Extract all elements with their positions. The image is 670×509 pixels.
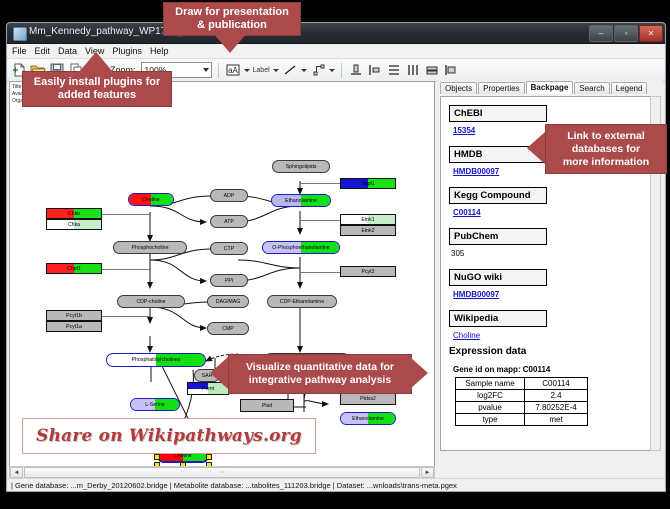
section-header-wikipedia: Wikipedia [449,310,547,327]
section-header-kegg: Kegg Compound [449,187,547,204]
callout-arrow-right-icon [410,357,428,389]
table-cell-value: 2.4 [525,390,588,402]
app-icon [13,27,27,41]
kegg-link[interactable]: C00114 [453,208,652,217]
chevron-down-icon[interactable] [329,69,335,72]
metabolite-node[interactable]: ATP [210,215,248,228]
gene-label: Chkb [68,211,80,217]
tab-backpage[interactable]: Backpage [526,81,574,94]
toolbar-separator [218,63,219,78]
metabolite-label: Phosphocholine [132,245,169,251]
scroll-left-icon[interactable]: ◄ [10,467,23,478]
table-cell-key: pvalue [456,402,525,414]
metabolite-node[interactable]: CMP [207,322,249,335]
callout-arrow-left-icon [527,132,545,164]
gene-box[interactable]: Sgpl1 [340,178,396,189]
close-button[interactable]: ✕ [639,25,663,42]
table-cell-key: type [456,414,525,426]
metabolite-node[interactable]: Ethanolamine [340,412,396,425]
table-cell-value: C00114 [525,378,588,390]
menu-item-data[interactable]: Data [58,46,77,56]
pubchem-value: 305 [451,249,652,258]
table-cell-key: log2FC [456,390,525,402]
metabolite-label: Ethanolamine [352,416,384,422]
shape-icon[interactable] [310,62,326,78]
selection-handle[interactable] [206,454,212,460]
gene-box[interactable]: Pisd [240,399,294,412]
tab-properties[interactable]: Properties [478,82,524,94]
metabolite-node[interactable]: PPi [210,274,248,287]
menu-item-plugins[interactable]: Plugins [112,46,142,56]
chevron-down-icon[interactable] [244,69,250,72]
selection-handle[interactable] [154,454,160,460]
align-bottom-icon[interactable] [348,62,364,78]
section-header-nugo: NuGO wiki [449,269,547,286]
maximize-button[interactable]: ▫ [614,25,638,42]
metabolite-node[interactable]: O-Phosphoethanolamine [262,241,340,254]
metabolite-label: CDP-Ethanolamine [280,299,324,305]
nugo-link[interactable]: HMDB00097 [453,290,652,299]
tab-search[interactable]: Search [574,82,609,94]
metabolite-label: DAG/MAG [216,299,241,305]
scroll-thumb[interactable]: ⋯ [24,467,420,478]
same-width-icon[interactable] [424,62,440,78]
metabolite-node[interactable]: L-Serine [130,398,180,411]
gene-label: Chka [68,222,80,228]
metabolite-node[interactable]: DAG/MAG [207,295,249,308]
metabolite-node[interactable]: CDP-Ethanolamine [267,295,337,308]
table-row: pvalue 7.80252E-4 [456,402,588,414]
chevron-down-icon[interactable] [273,69,279,72]
callout-quantitative: Visualize quantitative data for integrat… [228,354,412,394]
metabolite-label: Choline [142,197,160,203]
metabolite-label: CMP [222,326,234,332]
gene-box[interactable]: Etnk2 [340,225,396,236]
metabolite-label: O-Phosphoethanolamine [272,245,329,251]
metabolite-node[interactable]: Ethanolamine [271,194,331,207]
table-row: type met [456,414,588,426]
spacer [449,176,652,185]
metabolite-node[interactable]: Choline [128,193,174,206]
metabolite-label: L-Serine [145,402,165,408]
align-left-icon[interactable] [367,62,383,78]
gene-label: Chpt1 [67,266,81,272]
chevron-down-icon[interactable] [301,69,307,72]
minimize-button[interactable]: – [589,25,613,42]
text-box-icon[interactable]: aA [225,62,241,78]
expression-data-table: Sample name C00114 log2FC 2.4 pvalue 7.8… [455,377,588,426]
spacer [449,299,652,308]
callout-presentation: Draw for presentation & publication [163,2,301,36]
metabolite-label: ADP [224,193,235,199]
distribute-vertical-icon[interactable] [386,62,402,78]
gene-box[interactable]: Etnk1 [340,214,396,225]
screenshot-root: Mm_Kennedy_pathway_WP1771_45176.gpml – ▫… [0,0,670,509]
callout-plugins: Easily install plugins for added feature… [22,71,172,107]
line-icon[interactable] [282,62,298,78]
menu-item-edit[interactable]: Edit [35,46,51,56]
table-row: log2FC 2.4 [456,390,588,402]
metabolite-node[interactable]: CTP [210,242,248,255]
section-header-chebi: ChEBI [449,105,547,122]
connector-line [102,269,150,270]
spacer [449,217,652,226]
metabolite-label: Sphingolipids [286,164,317,170]
gene-box[interactable]: Pcyt1b [46,310,102,321]
svg-text:aA: aA [228,66,238,75]
gene-label: Etnk2 [361,228,374,234]
gene-label: Pcyt1a [66,324,82,330]
maximize-icon: ▫ [625,30,628,38]
connector-line [300,220,340,221]
pathway-diagram: Title: Availa Organi [10,82,434,467]
gene-box[interactable]: Chkb [46,208,102,219]
metabolite-label: PPi [225,278,233,284]
status-text: | Gene database: ...m_Derby_20120602.bri… [11,481,457,490]
metabolite-label: ATP [224,219,234,225]
connector-line [300,183,340,184]
table-cell-key: Sample name [456,378,525,390]
callout-arrow-down-icon [213,33,247,53]
callout-arrow-left-icon [210,357,228,389]
gene-box[interactable]: Ptdss2 [340,393,396,405]
minimize-icon: – [599,30,603,38]
gene-label: Pcyt2 [362,269,375,275]
side-panel-tabs: Objects Properties Backpage Search Legen… [437,81,663,94]
metabolite-label: Ethanolamine [285,198,317,204]
metabolite-label: Phosphatidylcholines [132,357,181,363]
menu-item-file[interactable]: File [12,46,27,56]
share-banner: Share on Wikipathways.org [22,418,316,454]
callout-external-links: Link to external databases for more info… [545,124,667,174]
metabolite-node[interactable]: ADP [210,189,248,202]
metabolite-node[interactable]: Phosphatidylcholines [106,353,206,367]
connector-line [102,214,150,215]
table-cell-value: met [525,414,588,426]
metabolite-node[interactable]: CDP-choline [117,295,185,308]
metabolite-node[interactable]: Sphingolipids [272,160,330,173]
label-tool-label[interactable]: Label [253,67,270,74]
expression-data-title: Expression data [449,346,652,357]
same-height-icon[interactable] [443,62,459,78]
tab-objects[interactable]: Objects [440,82,477,94]
section-header-pubchem: PubChem [449,228,547,245]
scroll-right-icon[interactable]: ► [421,467,434,478]
chevron-down-icon [203,68,209,72]
gene-box[interactable]: Pcyt2 [340,266,396,277]
gene-id-label: Gene id on mapp: C00114 [453,365,652,374]
table-cell-value: 7.80252E-4 [525,402,588,414]
window-titlebar: Mm_Kennedy_pathway_WP1771_45176.gpml – ▫… [7,23,665,44]
menu-item-help[interactable]: Help [150,46,169,56]
close-icon: ✕ [648,30,655,38]
gene-box[interactable]: Pcyt1a [46,321,102,332]
connector-line [300,272,340,273]
wikipedia-link[interactable]: Choline [453,331,652,340]
connector-line [102,316,150,317]
metabolite-label: CDP-choline [136,299,165,305]
window-buttons: – ▫ ✕ [589,25,663,42]
metabolite-label: CTP [224,246,234,252]
metabolite-node[interactable]: Phosphocholine [113,241,187,254]
gene-label: Pcyt1b [66,313,82,319]
toolbar-separator [341,63,342,78]
gene-box[interactable]: Chpt1 [46,263,102,274]
pathway-canvas[interactable]: Title: Availa Organi [9,81,435,467]
gene-label: Ptdss2 [360,396,376,402]
gene-box[interactable]: Chka [46,219,102,230]
table-row: Sample name C00114 [456,378,588,390]
tab-legend[interactable]: Legend [611,82,648,94]
gene-label: Pisd [262,403,272,409]
distribute-horizontal-icon[interactable] [405,62,421,78]
gene-label: Etnk1 [361,217,374,223]
gene-label: Sgpl1 [361,181,374,187]
callout-arrow-up-icon [79,52,113,72]
spacer [449,258,652,267]
share-text: Share on Wikipathways.org [36,426,302,446]
status-bar: | Gene database: ...m_Derby_20120602.bri… [7,478,665,491]
